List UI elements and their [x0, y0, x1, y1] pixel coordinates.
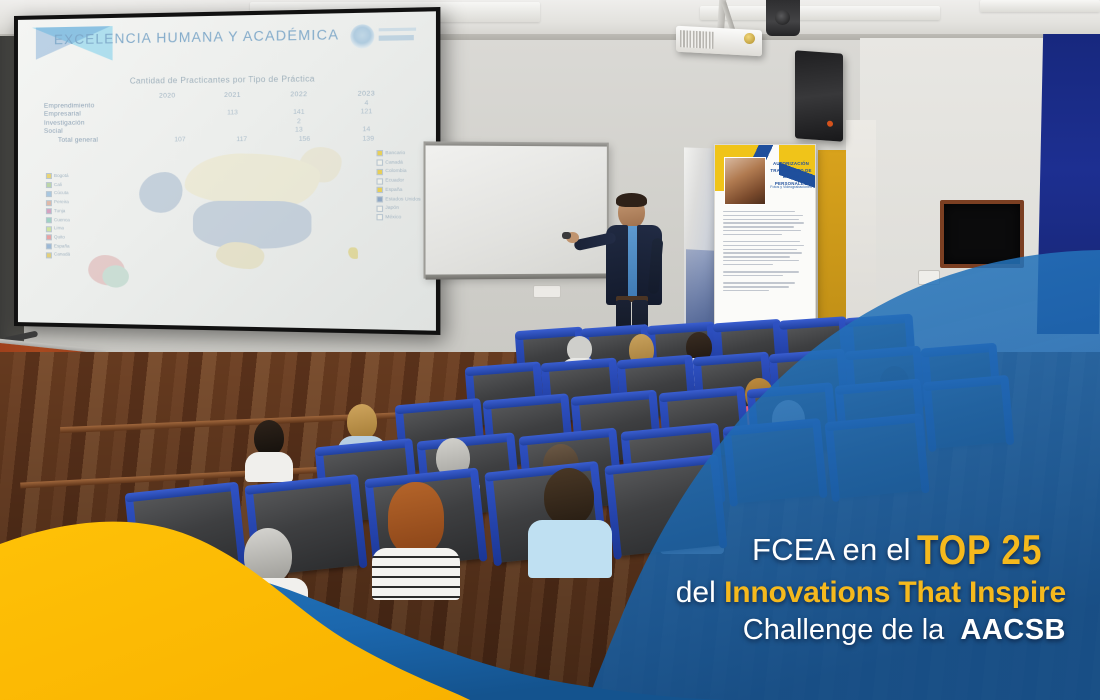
cell	[200, 127, 266, 135]
cell: 156	[273, 135, 336, 143]
headline-line-3: Challenge de la AACSB	[426, 613, 1066, 648]
column-header: 2020	[135, 92, 200, 100]
cell	[135, 109, 200, 117]
cell	[135, 118, 200, 126]
cell: 141	[266, 108, 333, 116]
table-row: Social 13 14	[44, 126, 401, 135]
slide-surface: EXCELENCIA HUMANA Y ACADÉMICA Cantidad d…	[18, 11, 436, 330]
headline-line-2-plain: del	[676, 576, 716, 609]
row-label: Emprendimiento	[44, 101, 135, 109]
map-legend-right: Bancario Canadá Colombia Ecuador España …	[376, 149, 420, 223]
auditorium-seat[interactable]	[728, 423, 822, 503]
legend-label: Tunja	[54, 207, 65, 216]
headline-line-1: FCEA en elTOP 25	[426, 526, 1066, 573]
legend-label: España	[385, 186, 402, 195]
legend-label: Quito	[54, 233, 65, 242]
legend-label: México	[385, 213, 401, 222]
light-switch[interactable]	[533, 285, 561, 298]
cell	[135, 127, 200, 134]
legend-label: Ecuador	[385, 176, 404, 185]
row-label: Total general	[44, 136, 150, 144]
legend-label: Cali	[54, 181, 62, 190]
cell: 139	[336, 135, 400, 143]
projector-vent	[680, 30, 714, 49]
event-photo-graphic: EXCELENCIA HUMANA Y ACADÉMICA Cantidad d…	[0, 0, 1100, 700]
headline-line-3-plain: Challenge de la	[743, 614, 945, 646]
row-label: Empresarial	[44, 110, 135, 118]
banner-subtitle: Fotos y Videograbaciones	[767, 185, 815, 189]
legend-label: Bogotá	[54, 172, 69, 181]
cell	[266, 100, 333, 108]
legend-label: Japón	[385, 204, 399, 213]
legend-label: Cuenca	[54, 216, 70, 225]
banner-title: AUTORIZACIÓN TRATAMIENTO DE DATOS PERSON…	[769, 161, 813, 187]
cell: 4	[332, 99, 400, 107]
headline-line-2: del Innovations That Inspire	[426, 575, 1066, 611]
projector-lens	[744, 33, 755, 44]
legend-label: Canadá	[385, 158, 403, 167]
crest-icon	[350, 22, 418, 50]
headline-block: FCEA en elTOP 25 del Innovations That In…	[426, 526, 1066, 648]
slide-data-table: 2020 2021 2022 2023 Emprendimiento 4 Emp…	[44, 90, 401, 143]
banner-photo	[724, 157, 766, 205]
column-header: 2023	[332, 90, 400, 98]
legend-label: Cúcuta	[54, 190, 69, 199]
headline-top25: TOP 25	[917, 526, 1042, 573]
column-header: 2021	[200, 91, 266, 99]
cell	[200, 118, 266, 126]
cell: 13	[266, 126, 333, 134]
slide-map	[78, 147, 394, 294]
legend-label: Bancario	[385, 149, 405, 158]
column-header: 2022	[266, 91, 333, 99]
whiteboard	[424, 141, 609, 278]
banner-body-text	[723, 211, 807, 294]
legend-label: España	[54, 242, 70, 251]
cell: 107	[149, 136, 210, 143]
cell: 121	[332, 108, 400, 116]
slide-chart-title: Cantidad de Practicantes por Tipo de Prá…	[18, 73, 436, 87]
table-row-total: Total general 107 117 156 139	[44, 135, 401, 144]
projection-screen: EXCELENCIA HUMANA Y ACADÉMICA Cantidad d…	[14, 7, 440, 335]
wall-window	[940, 200, 1024, 268]
cell	[332, 117, 400, 125]
legend-label: Lima	[54, 225, 64, 234]
audience-member	[228, 528, 308, 626]
row-label: Investigación	[44, 119, 135, 127]
headline-innovations: Innovations That Inspire	[724, 576, 1066, 609]
light-switch[interactable]	[918, 270, 940, 285]
auditorium-seat[interactable]	[130, 487, 242, 583]
legend-label: Colombia	[385, 167, 406, 176]
table-row: Investigación 2	[44, 117, 401, 127]
auditorium-seat[interactable]	[830, 419, 924, 499]
audience-member	[245, 420, 293, 478]
blue-wall-panel	[1037, 34, 1100, 334]
legend-label: Estados Unidos	[385, 195, 420, 204]
wall-speaker	[795, 50, 843, 141]
legend-label: Canadá	[54, 251, 70, 260]
headline-aacsb: AACSB	[960, 614, 1066, 646]
ceiling-light-panel	[980, 0, 1100, 12]
cell	[200, 100, 266, 108]
speaker-icon	[766, 0, 800, 36]
cell: 14	[332, 126, 400, 134]
map-legend-left: Bogotá Cali Cúcuta Pereira Tunja Cuenca …	[46, 172, 70, 260]
legend-label: Pereira	[54, 198, 69, 207]
ceiling-light-panel	[700, 6, 940, 20]
cell: 113	[200, 109, 266, 117]
cell: 2	[266, 117, 333, 125]
cell	[135, 101, 200, 109]
headline-line-1-plain: FCEA en el	[752, 532, 911, 567]
auditorium-seat[interactable]	[928, 380, 1009, 448]
cell: 117	[211, 135, 273, 142]
row-label: Social	[44, 127, 135, 135]
